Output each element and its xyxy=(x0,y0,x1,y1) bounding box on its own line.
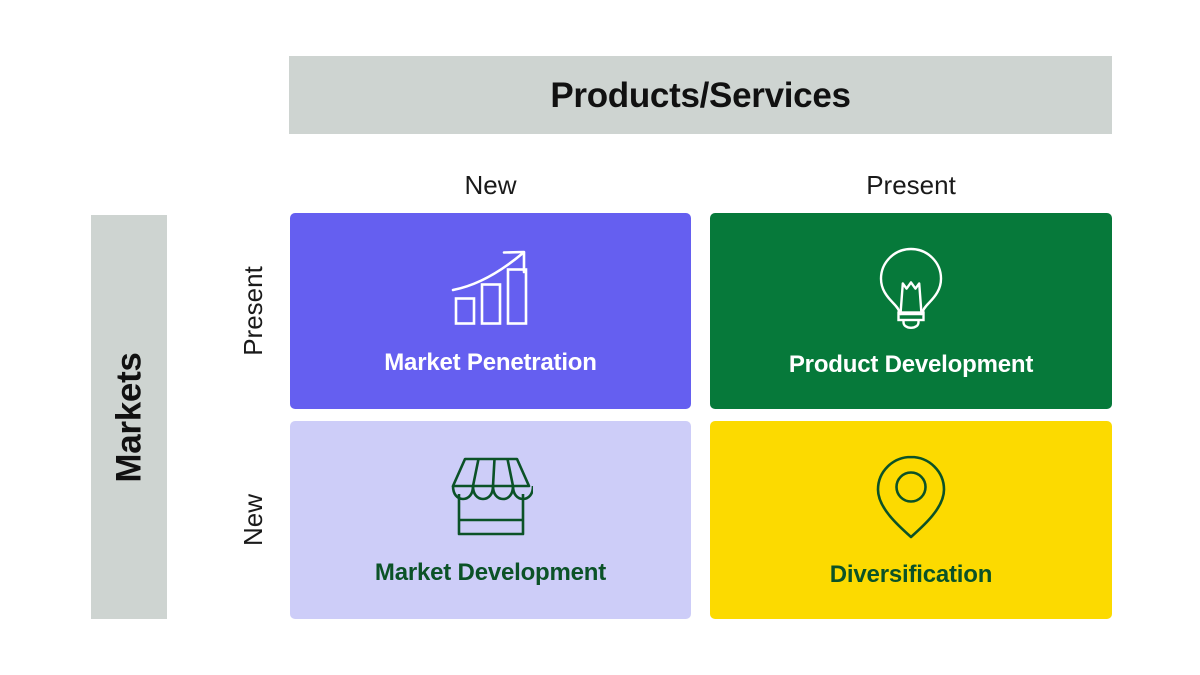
map-pin-icon xyxy=(875,454,947,545)
products-services-axis-header: Products/Services xyxy=(289,56,1112,134)
row-label-present-text: Present xyxy=(240,266,266,356)
column-label-present: Present xyxy=(710,168,1112,202)
quadrant-label-market-development: Market Development xyxy=(375,561,606,585)
lightbulb-icon xyxy=(872,246,950,335)
quadrant-market-development[interactable]: Market Development xyxy=(290,421,691,619)
quadrant-label-market-penetration: Market Penetration xyxy=(384,351,596,375)
column-label-present-text: Present xyxy=(866,172,956,198)
markets-axis-title: Markets xyxy=(112,352,147,482)
ansoff-matrix-diagram: Products/Services New Present Markets Pr… xyxy=(0,0,1200,675)
row-label-new: New xyxy=(230,421,276,619)
markets-axis-header: Markets xyxy=(91,215,167,619)
growth-chart-icon xyxy=(450,248,532,333)
row-label-new-text: New xyxy=(240,494,266,546)
products-services-axis-title: Products/Services xyxy=(550,78,850,113)
quadrant-label-diversification: Diversification xyxy=(830,563,992,587)
quadrant-market-penetration[interactable]: Market Penetration xyxy=(290,213,691,409)
quadrant-label-product-development: Product Development xyxy=(789,353,1033,377)
row-label-present: Present xyxy=(230,213,276,409)
column-label-new-text: New xyxy=(464,172,516,198)
quadrant-product-development[interactable]: Product Development xyxy=(710,213,1112,409)
storefront-icon xyxy=(449,456,533,543)
quadrant-diversification[interactable]: Diversification xyxy=(710,421,1112,619)
column-label-new: New xyxy=(290,168,691,202)
